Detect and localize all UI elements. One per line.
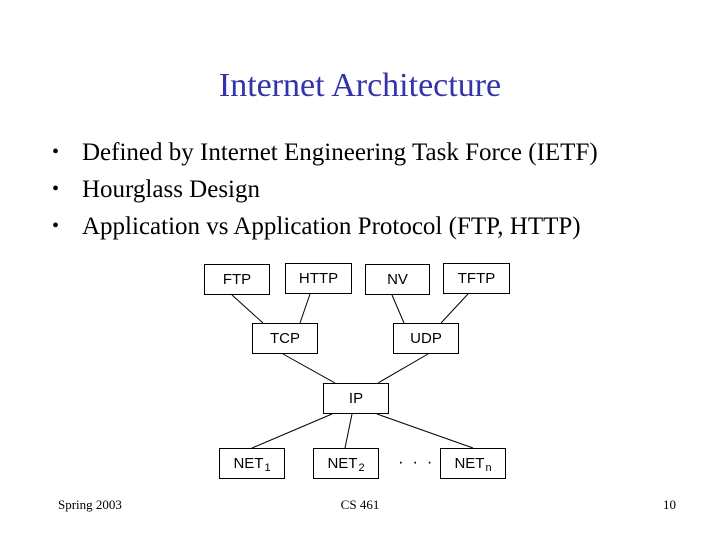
bullet-marker-icon: • [52,134,82,171]
connector-tcp-to-ip [283,354,335,383]
node-label: HTTP [299,270,338,287]
connector-ip-to-net2 [345,414,352,448]
footer-page-number: 10 [663,497,676,513]
bullet-item-2: • Hourglass Design [52,171,692,208]
bullet-marker-icon: • [52,171,82,208]
connector-nv-to-udp [392,295,404,323]
node-label: NET [233,455,263,472]
node-label: UDP [410,330,442,347]
node-label: NET [454,455,484,472]
node-label: NV [387,271,408,288]
node-box-ftp[interactable]: FTP [204,264,270,295]
connector-ftp-to-tcp [232,295,263,323]
bullet-marker-icon: • [52,208,82,245]
connector-udp-to-ip [378,354,428,383]
bullet-label: Application vs Application Protocol (FTP… [82,208,581,245]
node-label: NET [327,455,357,472]
node-box-tftp[interactable]: TFTP [443,263,510,294]
footer-course-label: CS 461 [0,497,720,513]
node-box-net2[interactable]: NET2 [313,448,379,479]
node-box-nv[interactable]: NV [365,264,430,295]
bullet-item-3: • Application vs Application Protocol (F… [52,208,692,245]
connector-ip-to-net1 [252,414,332,448]
ellipsis-label: · · · [398,452,434,472]
node-label: FTP [223,271,251,288]
node-box-ip[interactable]: IP [323,383,389,414]
page-title: Internet Architecture [0,66,720,106]
node-box-tcp[interactable]: TCP [252,323,318,354]
bullet-item-1: • Defined by Internet Engineering Task F… [52,134,692,171]
connector-http-to-tcp [300,294,310,323]
node-box-http[interactable]: HTTP [285,263,352,294]
node-label-subscript: 2 [357,462,364,474]
connector-ip-to-netn [377,414,473,448]
node-label: IP [349,390,363,407]
node-label-subscript: n [484,462,491,474]
bullet-list: • Defined by Internet Engineering Task F… [52,134,692,245]
node-box-netn[interactable]: NETn [440,448,506,479]
node-box-udp[interactable]: UDP [393,323,459,354]
node-label-subscript: 1 [263,462,270,474]
bullet-label: Hourglass Design [82,171,260,208]
node-label: TCP [270,330,300,347]
connector-tftp-to-udp [441,294,468,323]
node-label: TFTP [458,270,496,287]
node-box-net1[interactable]: NET1 [219,448,285,479]
slide: Internet Architecture • Defined by Inter… [0,0,720,540]
bullet-label: Defined by Internet Engineering Task For… [82,134,598,171]
